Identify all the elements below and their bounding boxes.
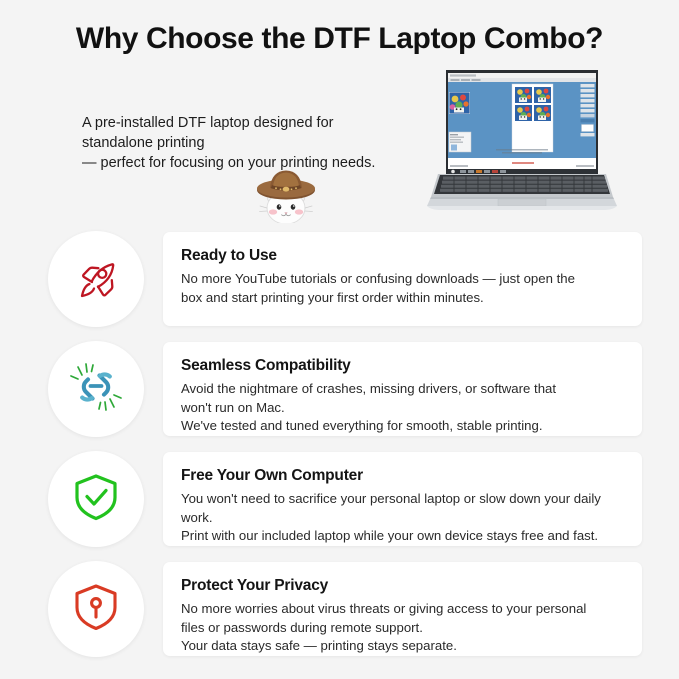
feature-body: You won't need to sacrifice your persona… — [181, 490, 624, 546]
feature-list: Ready to Use No more YouTube tutorials o… — [0, 224, 679, 664]
feature-card: Ready to Use No more YouTube tutorials o… — [163, 232, 642, 326]
feature-card: Protect Your Privacy No more worries abo… — [163, 562, 642, 656]
feature-title: Seamless Compatibility — [181, 357, 624, 375]
rocket-icon — [70, 251, 122, 308]
feature-icon-badge — [48, 341, 144, 437]
shield-check-icon — [69, 470, 123, 529]
feature-body: No more worries about virus threats or g… — [181, 600, 624, 656]
feature-title: Protect Your Privacy — [181, 577, 624, 595]
feature-title: Free Your Own Computer — [181, 467, 624, 485]
cat-cowboy-mascot — [243, 163, 329, 223]
feature-row: Free Your Own Computer You won't need to… — [0, 444, 679, 554]
feature-row: Seamless Compatibility Avoid the nightma… — [0, 334, 679, 444]
shield-keyhole-icon — [69, 580, 123, 639]
feature-icon-badge — [48, 561, 144, 657]
feature-row: Ready to Use No more YouTube tutorials o… — [0, 224, 679, 334]
feature-body: No more YouTube tutorials or confusing d… — [181, 270, 624, 307]
feature-body: Avoid the nightmare of crashes, missing … — [181, 380, 624, 436]
feature-row: Protect Your Privacy No more worries abo… — [0, 554, 679, 664]
chain-link-icon — [69, 360, 123, 419]
feature-icon-badge — [48, 451, 144, 547]
feature-title: Ready to Use — [181, 247, 624, 265]
laptop-dtf-software — [424, 66, 620, 211]
feature-icon-badge — [48, 231, 144, 327]
feature-card: Free Your Own Computer You won't need to… — [163, 452, 642, 546]
feature-card: Seamless Compatibility Avoid the nightma… — [163, 342, 642, 436]
page-title: Why Choose the DTF Laptop Combo? — [0, 22, 679, 56]
